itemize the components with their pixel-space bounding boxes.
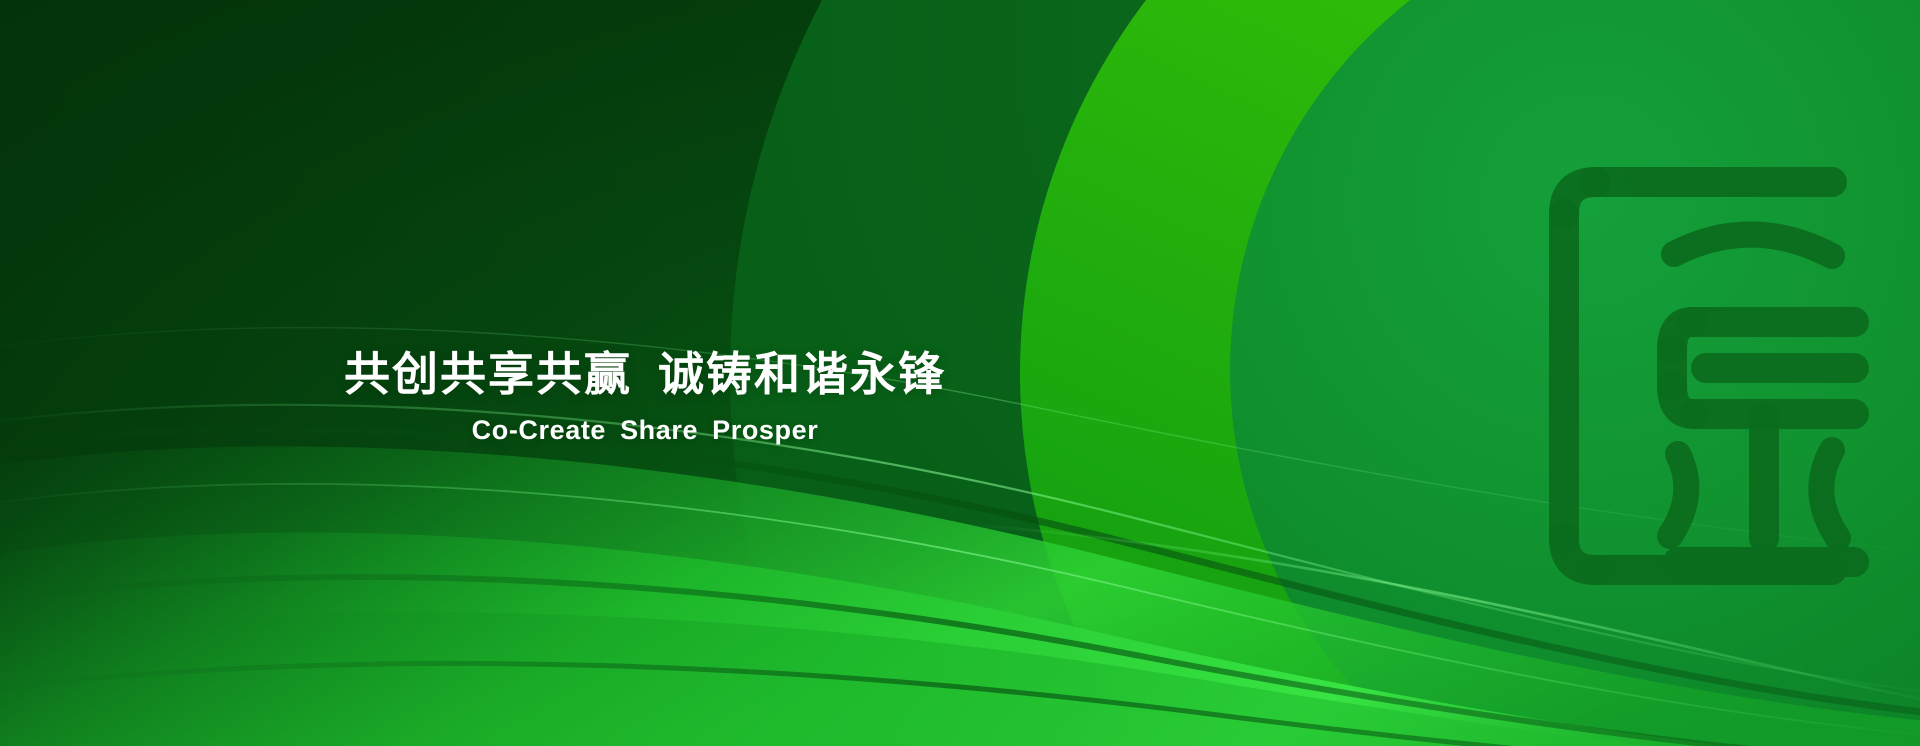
page-title: 共创共享共赢诚铸和谐永锋 [344,348,946,401]
headline-cn-part2: 诚铸和谐永锋 [658,348,946,400]
subtitle-word-prosper: Prosper [712,415,818,445]
page-subtitle: Co-CreateShareProsper [472,415,819,446]
subtitle-word-co-create: Co-Create [472,415,606,445]
hero-banner: 共创共享共赢诚铸和谐永锋 Co-CreateShareProsper [0,0,1920,746]
headline-cn-part1: 共创共享共赢 [344,348,632,400]
subtitle-word-share: Share [620,415,698,445]
headline-block: 共创共享共赢诚铸和谐永锋 Co-CreateShareProsper [0,0,1290,746]
